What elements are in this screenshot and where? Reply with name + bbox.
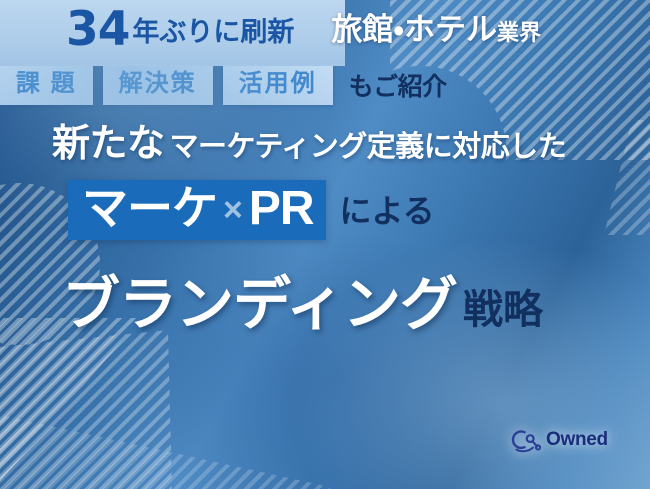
industry-suffix-label: 業界 [497,15,541,47]
line3-tail-text: による [340,186,435,232]
industry-label: 旅館・ホテル [331,4,497,49]
owned-logo: Owned [508,427,608,453]
kicker-text: 年ぶりに刷新 [132,10,294,49]
headline-line-4: ブランディング 戦略 [62,276,543,334]
stripe-slab-bottom-left-decoration [0,318,310,489]
line2-body-text: マーケティング定義に対応した [170,123,567,165]
topic-badge-solution: 解決策 [103,66,213,105]
owned-wordmark: Owned [546,429,608,451]
topic-badge-issue: 課 題 [0,66,93,105]
topic-badge-row: 課 題 解決策 活用例 もご紹介 [0,66,650,105]
background-glow-center [120,230,550,489]
owned-loop-icon [508,427,542,453]
headline-line-3: マーケ × PR による [68,180,435,240]
topic-badge-usecase: 活用例 [223,66,333,105]
marketing-banner: 34 年ぶりに刷新 旅館・ホテル 業界 新たな マーケティング定義に対応した マ… [0,0,650,489]
branding-label: ブランディング [62,276,457,334]
marke-label: マーケ [82,184,217,232]
multiply-icon: × [223,191,243,230]
stripe-slab-bottom-left-secondary-decoration [0,330,310,489]
years-number: 34 [66,6,129,53]
stripe-sliver-right-decoration [604,120,650,235]
headline-line-2: 新たな マーケティング定義に対応した [52,112,566,167]
headline-line-1: 34 年ぶりに刷新 旅館・ホテル 業界 [0,0,650,66]
stripe-wedge-bottom-decoration [0,415,330,489]
pr-label: PR [249,184,314,234]
marke-pr-accent-box: マーケ × PR [68,180,326,240]
strategy-label: 戦略 [463,290,543,330]
badge-row-tail-text: もご紹介 [349,67,447,103]
line2-emphasis-text: 新たな [52,112,165,167]
